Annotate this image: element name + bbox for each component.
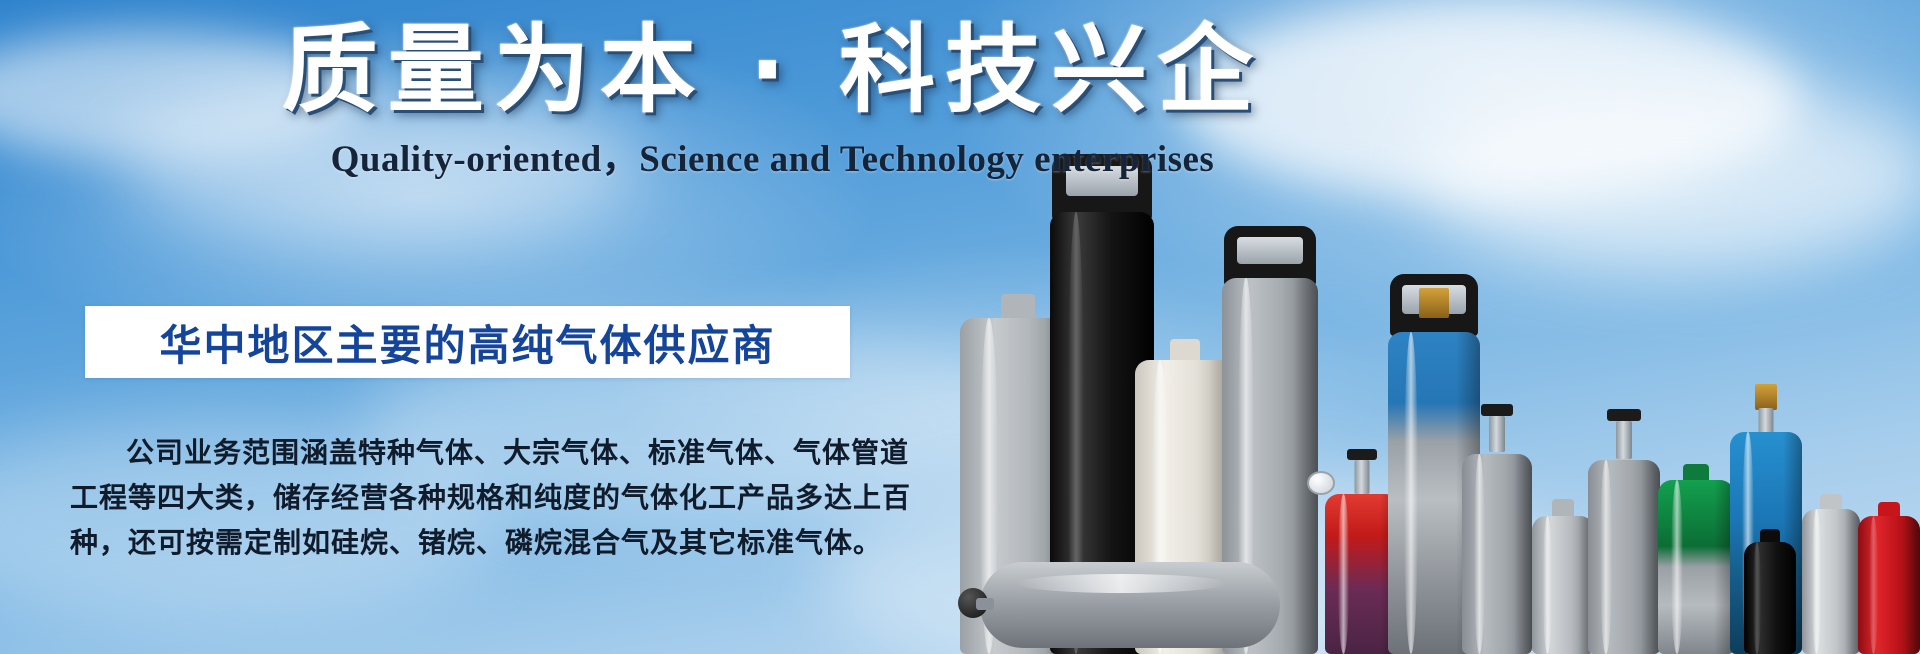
headline-english: Quality-oriented，Science and Technology …: [0, 128, 1545, 182]
paragraph-line: 工程等四大类，储存经营各种规格和纯度的气体化工产品多达上百: [70, 475, 900, 520]
cylinder-gloss: [1404, 332, 1419, 654]
cylinder-green-grey: [1658, 464, 1734, 654]
cylinder-red-short: [1858, 502, 1920, 654]
cylinder-grey-slim: [1462, 404, 1532, 654]
description-paragraph: 公司业务范围涵盖特种气体、大宗气体、标准气体、气体管道 工程等四大类，储存经营各…: [70, 430, 900, 565]
cylinder-aluminium-short: [1532, 499, 1594, 654]
cylinder-gloss: [1671, 480, 1683, 654]
tank-neck: [976, 598, 994, 610]
cylinder-body: [1858, 516, 1920, 654]
headline-chinese: 质量为本 · 科技兴企: [0, 18, 1545, 124]
cylinder-gloss: [1543, 516, 1553, 654]
cylinder-neck: [1820, 494, 1842, 510]
cylinder-gloss: [1869, 516, 1879, 654]
cylinder-knob: [1347, 449, 1377, 460]
cylinder-stem: [1355, 460, 1370, 494]
cylinder-lying-tank: [980, 562, 1280, 648]
cylinder-body: [1532, 516, 1594, 654]
cylinder-aluminium-brushed: [1802, 494, 1860, 654]
cylinder-grey-knob: [1588, 409, 1660, 654]
cylinder-gloss: [1474, 454, 1485, 654]
cylinder-gloss: [1016, 574, 1226, 593]
cylinder-body: [1658, 480, 1734, 654]
cylinder-body: [1462, 454, 1532, 654]
pressure-gauge-icon: [1307, 471, 1335, 495]
cylinder-shade: [1904, 516, 1920, 654]
cylinder-knob: [1481, 404, 1513, 416]
cylinder-valve-cap: [1224, 226, 1316, 286]
brass-valve-icon: [1755, 384, 1777, 410]
cylinder-gloss: [1600, 460, 1612, 654]
cylinder-body: [1588, 460, 1660, 654]
gas-company-banner: 质量为本 · 科技兴企 Quality-oriented，Science and…: [0, 0, 1920, 654]
paragraph-line: 公司业务范围涵盖特种气体、大宗气体、标准气体、气体管道: [70, 430, 900, 475]
cylinder-neck: [1001, 294, 1035, 320]
cylinder-stem: [1489, 416, 1505, 452]
cylinder-gloss: [1753, 542, 1761, 654]
slogan-box: 华中地区主要的高纯气体供应商: [85, 306, 850, 378]
cylinder-shade: [1293, 278, 1318, 654]
cylinder-neck: [1760, 529, 1780, 543]
cylinder-gloss: [1338, 494, 1350, 654]
cylinder-gloss: [1812, 509, 1821, 654]
brass-valve-icon: [1419, 288, 1449, 318]
headline-block: 质量为本 · 科技兴企 Quality-oriented，Science and…: [0, 18, 1545, 182]
cylinder-body: [1744, 542, 1796, 654]
cylinder-stem: [1616, 421, 1632, 459]
cylinder-body: [1802, 509, 1860, 654]
cylinder-black-gloss-small: [1744, 529, 1796, 654]
slogan-text: 华中地区主要的高纯气体供应商: [159, 312, 775, 373]
cylinder-knob: [1607, 409, 1641, 421]
cylinder-shade: [1514, 454, 1532, 654]
paragraph-line: 种，还可按需定制如硅烷、锗烷、磷烷混合气及其它标准气体。: [70, 520, 900, 565]
